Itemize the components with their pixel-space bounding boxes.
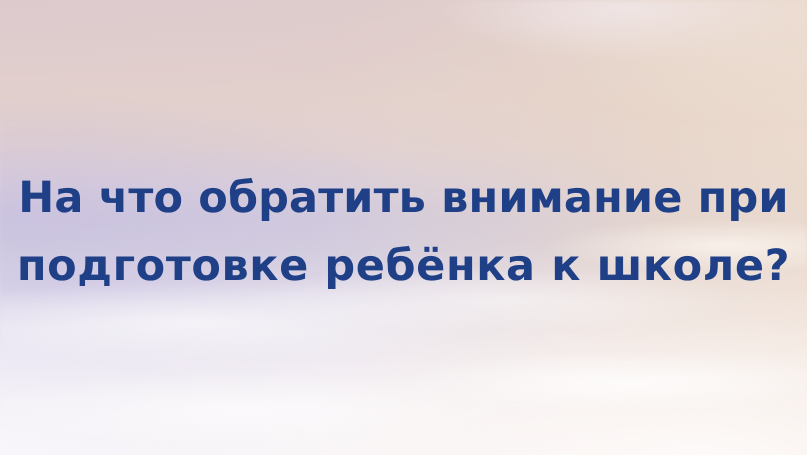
- background-haze: [0, 0, 807, 455]
- title-card-slide: На что обратить внимание при подготовке …: [0, 0, 807, 455]
